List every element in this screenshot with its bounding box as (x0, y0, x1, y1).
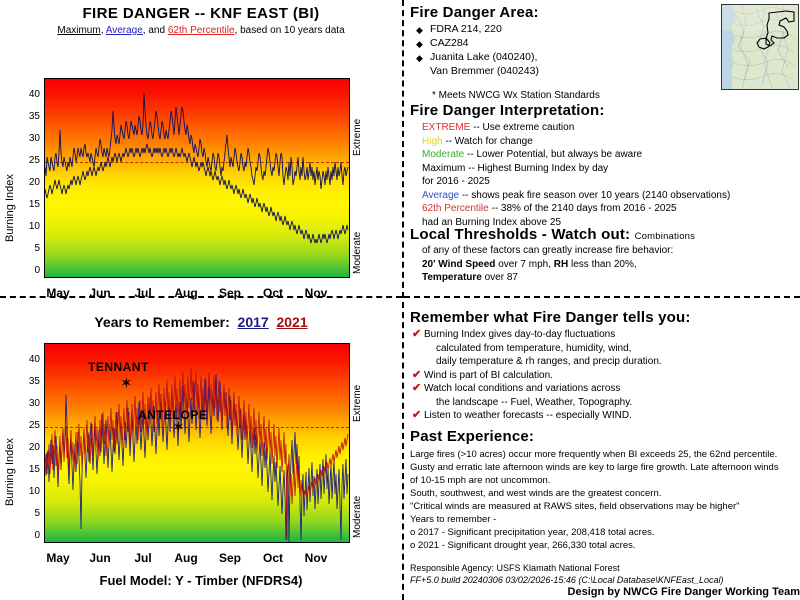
nwcg-standards-note: * Meets NWCG Wx Station Standards (410, 90, 715, 101)
fire-danger-area-section: Fire Danger Area: ◆FDRA 214, 220 ◆CAZ284… (410, 4, 715, 101)
top-ytick-15: 15 (18, 199, 40, 210)
list-item-label: FDRA 214, 220 (430, 23, 502, 35)
bottom-xtick-oct: Oct (253, 551, 293, 565)
past-line: Gusty and erratic late afternoon winds a… (410, 461, 800, 474)
remember-heading: Remember what Fire Danger tells you: (410, 309, 798, 326)
remember-item-label: calculated from temperature, humidity, w… (410, 342, 798, 356)
interp-key: High (422, 136, 443, 147)
bottom-ytick-5: 5 (18, 508, 40, 519)
annotation-antelope-marker: ✶ (172, 420, 185, 435)
threshold-line-3: Temperature over 87 (422, 271, 798, 285)
past-experience-section: Past Experience: Large fires (>10 acres)… (410, 428, 800, 552)
top-ytick-10: 10 (18, 221, 40, 232)
past-line: Years to remember - (410, 513, 800, 526)
top-band-label-extreme: Extreme (352, 86, 363, 156)
top-ytick-5: 5 (18, 243, 40, 254)
bottom-ytick-35: 35 (18, 376, 40, 387)
remember-item: ✔Listen to weather forecasts -- especial… (410, 409, 798, 423)
bottom-xtick-nov: Nov (296, 551, 336, 565)
bottom-ytick-15: 15 (18, 464, 40, 475)
fire-danger-area-heading: Fire Danger Area: (410, 4, 715, 21)
legend-tail: , based on 10 years data (235, 25, 345, 36)
bottom-ytick-20: 20 (18, 442, 40, 453)
interpretation-section: Fire Danger Interpretation: EXTREME -- U… (410, 102, 798, 229)
interp-text: -- Use extreme caution (470, 122, 574, 133)
list-item-label: Van Bremmer (040243) (430, 65, 539, 77)
footer: Responsible Agency: USFS Klamath Nationa… (410, 562, 800, 586)
interp-line: Average -- shows peak fire season over 1… (422, 189, 798, 203)
bottom-xtick-may: May (38, 551, 78, 565)
top-xtick-aug: Aug (166, 286, 206, 300)
bottom-ytick-0: 0 (18, 530, 40, 541)
map-svg (722, 5, 798, 89)
list-item-label: Juanita Lake (040240), (430, 51, 537, 63)
top-ytick-20: 20 (18, 177, 40, 188)
threshold-line-1: of any of these factors can greatly incr… (422, 244, 798, 258)
past-line: o 2017 - Significant precipitation year,… (410, 526, 800, 539)
bottom-chart-panel: Years to Remember: 2017 2021 Burning Ind… (0, 300, 402, 600)
top-chart-title: FIRE DANGER -- KNF EAST (BI) (0, 5, 402, 22)
interp-key: 62th Percentile (422, 203, 489, 214)
bottom-ytick-30: 30 (18, 398, 40, 409)
top-ytick-0: 0 (18, 265, 40, 276)
past-line: of 10-15 mph are not uncommon. (410, 474, 800, 487)
diamond-bullet-icon: ◆ (416, 52, 423, 65)
top-xtick-nov: Nov (296, 286, 336, 300)
interpretation-lines: EXTREME -- Use extreme caution High -- W… (410, 121, 798, 229)
bottom-xtick-jun: Jun (80, 551, 120, 565)
remember-item-label: Watch local conditions and variations ac… (424, 383, 620, 394)
check-icon: ✔ (412, 409, 422, 423)
legend-average: Average (106, 25, 143, 36)
years-to-remember-label: Years to Remember: (94, 314, 229, 330)
bottom-ytick-25: 25 (18, 420, 40, 431)
past-line: Large fires (>10 acres) occur more frequ… (410, 448, 800, 461)
past-line: South, southwest, and west winds are the… (410, 487, 800, 500)
interp-line: Maximum -- Highest Burning Index by day (422, 162, 798, 176)
local-thresholds-title: Local Thresholds - Watch out: (410, 226, 630, 243)
past-experience-heading: Past Experience: (410, 428, 800, 445)
list-item: Van Bremmer (040243) (410, 65, 715, 78)
interp-line: High -- Watch for change (422, 135, 798, 149)
top-plot-area (44, 78, 350, 278)
interpretation-heading: Fire Danger Interpretation: (410, 102, 798, 119)
top-band-label-moderate: Moderate (352, 216, 363, 274)
top-ytick-25: 25 (18, 155, 40, 166)
top-chart-subtitle: Maximum, Average, and 62th Percentile, b… (0, 25, 402, 36)
diamond-bullet-icon: ◆ (416, 38, 423, 51)
interp-text: -- shows peak fire season over 10 years … (459, 190, 730, 201)
check-icon: ✔ (412, 382, 422, 396)
bottom-y-axis-label: Burning Index (4, 396, 16, 506)
interp-text: Maximum -- Highest Burning Index by day (422, 163, 608, 174)
year-2017-label: 2017 (238, 314, 269, 330)
build-info: FF+5.0 build 20240306 03/02/2026-15:46 (… (410, 574, 800, 586)
past-line: o 2021 - Significant drought year, 266,3… (410, 539, 800, 552)
interp-key: Moderate (422, 149, 464, 160)
interp-line: EXTREME -- Use extreme caution (422, 121, 798, 135)
wind-speed-label: 20' Wind Speed (422, 259, 495, 270)
interp-key: EXTREME (422, 122, 470, 133)
bottom-chart-title: Years to Remember: 2017 2021 (0, 314, 402, 330)
bottom-band-label-extreme: Extreme (352, 352, 363, 422)
wind-speed-value: over 7 mph, (495, 259, 553, 270)
rh-label: RH (554, 259, 568, 270)
horizontal-divider-right (404, 296, 800, 298)
top-xtick-jun: Jun (80, 286, 120, 300)
fuel-model-label: Fuel Model: Y - Timber (NFDRS4) (0, 573, 402, 588)
temperature-label: Temperature (422, 272, 482, 283)
year-2021-label: 2021 (276, 314, 307, 330)
remember-item: ✔Watch local conditions and variations a… (410, 382, 798, 396)
remember-item-label: Burning Index gives day-to-day fluctuati… (424, 329, 615, 340)
interp-text: -- Watch for change (443, 136, 533, 147)
bottom-ytick-10: 10 (18, 486, 40, 497)
remember-item-label: the landscape -- Fuel, Weather, Topograp… (410, 396, 798, 410)
annotation-tennant-marker: ✶ (120, 376, 133, 391)
list-item: ◆Juanita Lake (040240), (410, 51, 715, 64)
remember-section: Remember what Fire Danger tells you: ✔Bu… (410, 309, 798, 423)
interp-text: -- Lower Potential, but always be aware (464, 149, 642, 160)
top-series-svg (45, 79, 349, 277)
interp-text: -- 38% of the 2140 days from 2016 - 2025 (489, 203, 677, 214)
past-line: "Critical winds are measured at RAWS sit… (410, 500, 800, 513)
top-series-maximum (45, 93, 348, 189)
check-icon: ✔ (412, 369, 422, 383)
list-item: ◆CAZ284 (410, 37, 715, 50)
local-thresholds-body: of any of these factors can greatly incr… (410, 244, 798, 285)
bottom-xtick-jul: Jul (123, 551, 163, 565)
interp-line: Moderate -- Lower Potential, but always … (422, 148, 798, 162)
poster-root: FIRE DANGER -- KNF EAST (BI) Maximum, Av… (0, 0, 800, 600)
top-xtick-oct: Oct (253, 286, 293, 300)
remember-item-label: Wind is part of BI calculation. (424, 370, 553, 381)
legend-sep-2: , and (143, 25, 168, 36)
top-ytick-35: 35 (18, 111, 40, 122)
past-experience-body: Large fires (>10 acres) occur more frequ… (410, 448, 800, 552)
remember-item: ✔Burning Index gives day-to-day fluctuat… (410, 328, 798, 342)
bottom-series-2021 (45, 368, 348, 540)
remember-item-label: daily temperature & rh ranges, and preci… (410, 355, 798, 369)
top-xtick-may: May (38, 286, 78, 300)
rh-value: less than 20%, (568, 259, 636, 270)
local-thresholds-heading: Local Thresholds - Watch out: Combinatio… (410, 226, 798, 243)
bottom-xtick-sep: Sep (210, 551, 250, 565)
annotation-tennant: TENNANT (88, 360, 149, 374)
interp-line: 62th Percentile -- 38% of the 2140 days … (422, 202, 798, 216)
legend-percentile: 62th Percentile (168, 25, 235, 36)
responsible-agency: Responsible Agency: USFS Klamath Nationa… (410, 562, 800, 574)
top-y-axis-label: Burning Index (4, 132, 16, 242)
bottom-xtick-aug: Aug (166, 551, 206, 565)
top-xtick-sep: Sep (210, 286, 250, 300)
remember-list: ✔Burning Index gives day-to-day fluctuat… (410, 328, 798, 423)
interp-key: Average (422, 190, 459, 201)
list-item-label: CAZ284 (430, 37, 469, 49)
list-item: ◆FDRA 214, 220 (410, 23, 715, 36)
fire-danger-area-list: ◆FDRA 214, 220 ◆CAZ284 ◆Juanita Lake (04… (410, 23, 715, 78)
temperature-value: over 87 (482, 272, 518, 283)
bottom-ytick-40: 40 (18, 354, 40, 365)
remember-item-label: Listen to weather forecasts -- especiall… (424, 410, 632, 421)
locator-map-image (721, 4, 799, 90)
interp-line: for 2016 - 2025 (422, 175, 798, 189)
top-chart-panel: FIRE DANGER -- KNF EAST (BI) Maximum, Av… (0, 0, 402, 296)
threshold-line-2: 20' Wind Speed over 7 mph, RH less than … (422, 258, 798, 272)
check-icon: ✔ (412, 328, 422, 342)
bottom-band-label-moderate: Moderate (352, 480, 363, 538)
remember-item: ✔Wind is part of BI calculation. (410, 369, 798, 383)
local-thresholds-section: Local Thresholds - Watch out: Combinatio… (410, 226, 798, 285)
diamond-bullet-icon: ◆ (416, 24, 423, 37)
top-xtick-jul: Jul (123, 286, 163, 300)
local-thresholds-suffix: Combinations (635, 231, 696, 242)
interp-text: for 2016 - 2025 (422, 176, 490, 187)
design-credit: Design by NWCG Fire Danger Working Team (410, 586, 800, 598)
top-ytick-40: 40 (18, 89, 40, 100)
legend-maximum: Maximum (57, 25, 100, 36)
vertical-divider (402, 0, 404, 600)
top-ytick-30: 30 (18, 133, 40, 144)
